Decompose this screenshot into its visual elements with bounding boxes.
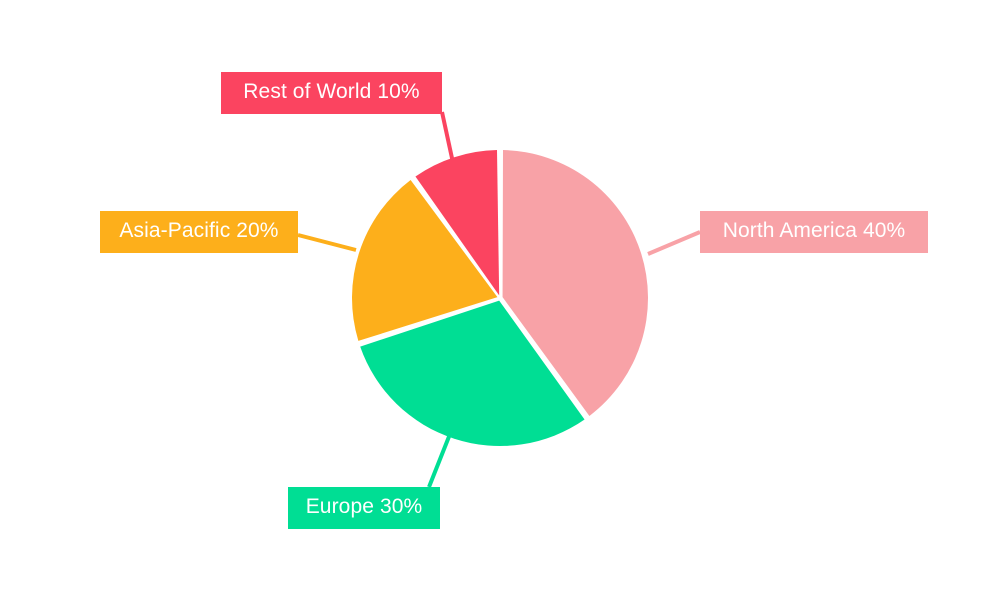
pie-label-rest-of-world[interactable]: Rest of World 10% — [221, 72, 442, 114]
leader-line-europe — [429, 429, 452, 487]
leader-line-asia-pacific — [298, 235, 356, 250]
leader-line-north-america — [648, 232, 700, 254]
pie-label-north-america[interactable]: North America 40% — [700, 211, 928, 253]
pie-chart-canvas — [0, 0, 1000, 600]
pie-label-europe[interactable]: Europe 30% — [288, 487, 440, 529]
pie-chart: North America 40%Europe 30%Asia-Pacific … — [0, 0, 1000, 600]
pie-label-asia-pacific[interactable]: Asia-Pacific 20% — [100, 211, 298, 253]
pie-slice-group — [352, 150, 648, 446]
